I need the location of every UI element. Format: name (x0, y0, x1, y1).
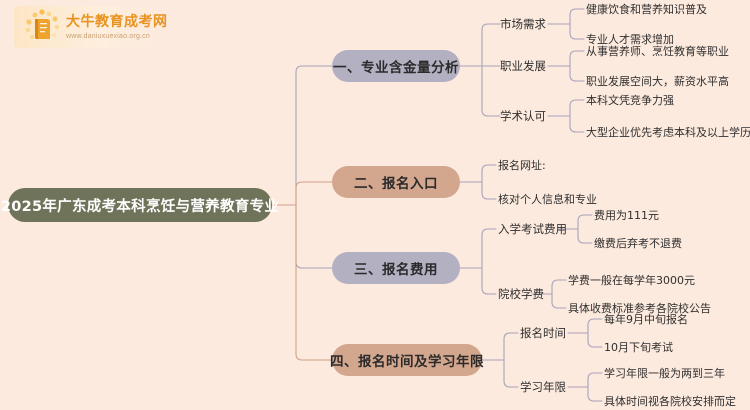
leaf-label[interactable]: 费用为111元 (594, 209, 659, 223)
sub-label-career-development[interactable]: 职业发展 (500, 59, 546, 73)
site-logo[interactable]: 大牛教育成考网 www.daniuxuexiao.org.cn (14, 6, 166, 48)
leaf-label[interactable]: 健康饮食和营养知识普及 (586, 3, 707, 17)
leaf-label[interactable]: 职业发展空间大，薪资水平高 (586, 75, 729, 89)
logo-name: 大牛教育成考网 (66, 15, 168, 30)
branch-node-3[interactable]: 三、报名费用 (332, 252, 460, 284)
leaf-label[interactable]: 具体时间视各院校安排而定 (604, 395, 736, 409)
sub-label-tuition-fee[interactable]: 院校学费 (498, 287, 544, 301)
sub-label-academic-recognition[interactable]: 学术认可 (500, 109, 546, 123)
leaf-label[interactable]: 10月下旬考试 (604, 341, 673, 355)
branch-node-4[interactable]: 四、报名时间及学习年限 (332, 344, 482, 376)
sub-label-market-demand[interactable]: 市场需求 (500, 17, 546, 31)
leaf-label[interactable]: 报名网址: (498, 159, 546, 173)
sub-label-registration-time[interactable]: 报名时间 (520, 326, 566, 340)
leaf-label[interactable]: 核对个人信息和专业 (498, 193, 597, 207)
leaf-label[interactable]: 大型企业优先考虑本科及以上学历 (586, 126, 750, 140)
branch-node-1[interactable]: 一、专业含金量分析 (332, 50, 460, 82)
book-icon (20, 8, 64, 46)
leaf-label[interactable]: 从事营养师、烹饪教育等职业 (586, 45, 729, 59)
leaf-label[interactable]: 本科文凭竞争力强 (586, 94, 674, 108)
leaf-label[interactable]: 缴费后弃考不退费 (594, 237, 682, 251)
leaf-label[interactable]: 每年9月中旬报名 (604, 313, 688, 327)
sub-label-entrance-exam-fee[interactable]: 入学考试费用 (498, 222, 567, 236)
sub-label-study-duration[interactable]: 学习年限 (520, 380, 566, 394)
branch-node-2[interactable]: 二、报名入口 (332, 166, 460, 198)
leaf-label[interactable]: 学习年限一般为两到三年 (604, 367, 725, 381)
logo-url: www.daniuxuexiao.org.cn (66, 33, 168, 40)
leaf-label[interactable]: 学费一般在每学年3000元 (568, 274, 695, 288)
mindmap-root-node[interactable]: 2025年广东成考本科烹饪与营养教育专业 (8, 188, 272, 222)
